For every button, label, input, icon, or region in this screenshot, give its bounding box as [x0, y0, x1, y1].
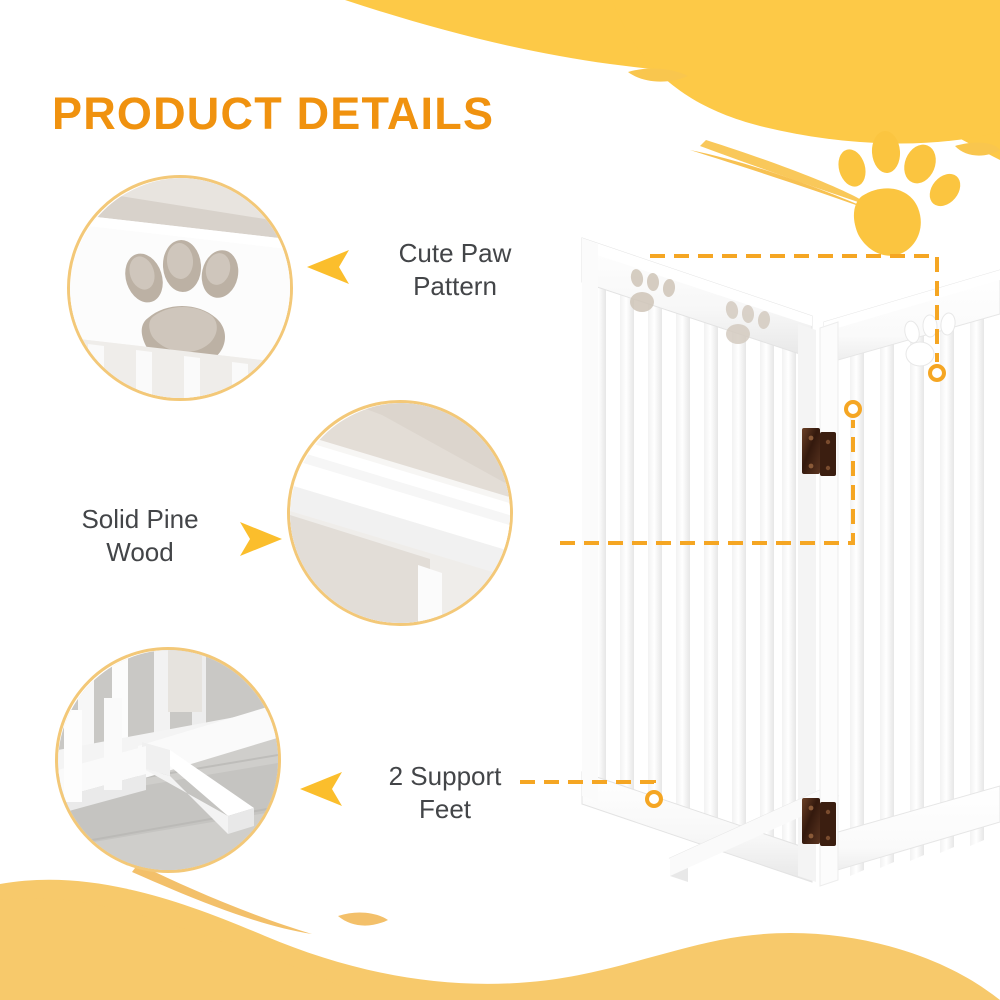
swoosh-accent-small — [628, 69, 688, 82]
gate-right-panel — [820, 270, 1000, 886]
left-panel-stile — [582, 238, 598, 802]
callout-circle-cute-paw-pattern — [67, 175, 293, 401]
bottom-yellow-wave-back — [0, 898, 360, 1000]
left-panel-slats — [592, 260, 796, 867]
arrow-left-cute-paw-pattern — [305, 248, 349, 286]
photo-support-foot-closeup — [58, 650, 281, 873]
swoosh-line-top-long — [690, 150, 876, 212]
hinge-top — [802, 428, 836, 476]
product-details-infographic: PRODUCT DETAILS — [0, 0, 1000, 1000]
arrow-left-2-support-feet — [298, 770, 342, 808]
top-yellow-wave-lobe — [612, 0, 1000, 143]
page-title: PRODUCT DETAILS — [52, 88, 494, 140]
callout-circle-2-support-feet — [55, 647, 281, 873]
right-panel-slats — [850, 312, 984, 876]
gate-left-panel — [582, 238, 816, 882]
product-photo-pet-gate — [520, 230, 1000, 910]
callout-circle-solid-pine-wood — [287, 400, 513, 626]
callout-label-2-support-feet: 2 Support Feet — [345, 760, 545, 827]
photo-paw-cutout-closeup — [70, 178, 293, 401]
paw-accent-whisker — [955, 143, 1000, 156]
swoosh-accent-bottom — [338, 913, 388, 926]
hinge-bottom — [802, 798, 836, 846]
callout-label-solid-pine-wood: Solid Pine Wood — [40, 503, 240, 570]
arrow-right-solid-pine-wood — [240, 520, 284, 558]
callout-label-cute-paw-pattern: Cute Paw Pattern — [355, 237, 555, 304]
right-panel-fold-stile — [820, 322, 838, 886]
swoosh-line-top — [700, 140, 870, 206]
swoosh-line-bottom — [132, 864, 312, 934]
photo-pine-wood-closeup — [290, 403, 513, 626]
